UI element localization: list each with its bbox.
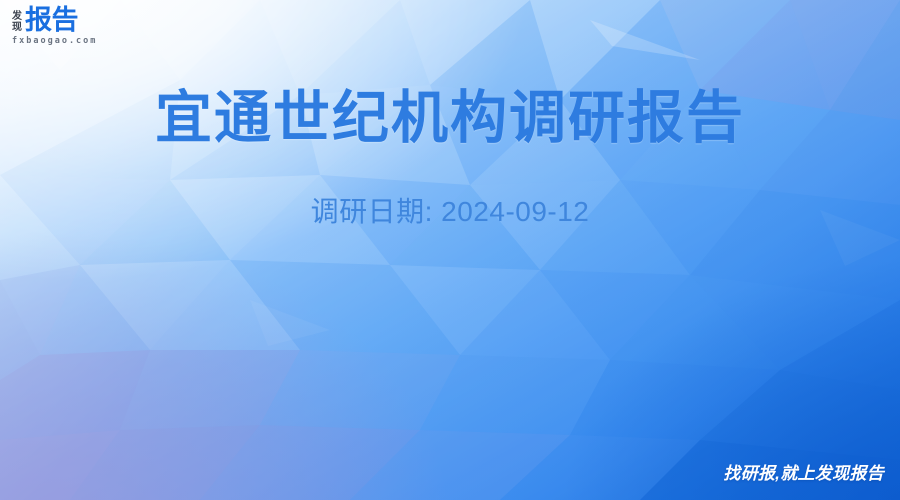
logo-domain-text: fxbaogao.com	[12, 36, 97, 46]
page-subtitle: 调研日期: 2024-09-12	[0, 195, 900, 229]
footer-slogan: 找研报,就上发现报告	[723, 459, 884, 484]
page-title: 宜通世纪机构调研报告	[0, 86, 900, 151]
logo-char-bottom: 现	[12, 23, 22, 33]
low-poly-background	[0, 0, 900, 500]
logo-char-top: 发	[12, 12, 22, 22]
cover-title-block: 宜通世纪机构调研报告 调研日期: 2024-09-12	[0, 86, 900, 229]
logo-main-text: 报告	[25, 8, 78, 34]
logo-wordmark: 发 现 报告	[12, 8, 78, 34]
logo-stacked-chars: 发 现	[12, 12, 22, 34]
report-cover: 发 现 报告 fxbaogao.com 宜通世纪机构调研报告 调研日期: 202…	[0, 0, 900, 500]
site-logo[interactable]: 发 现 报告 fxbaogao.com	[12, 8, 97, 46]
